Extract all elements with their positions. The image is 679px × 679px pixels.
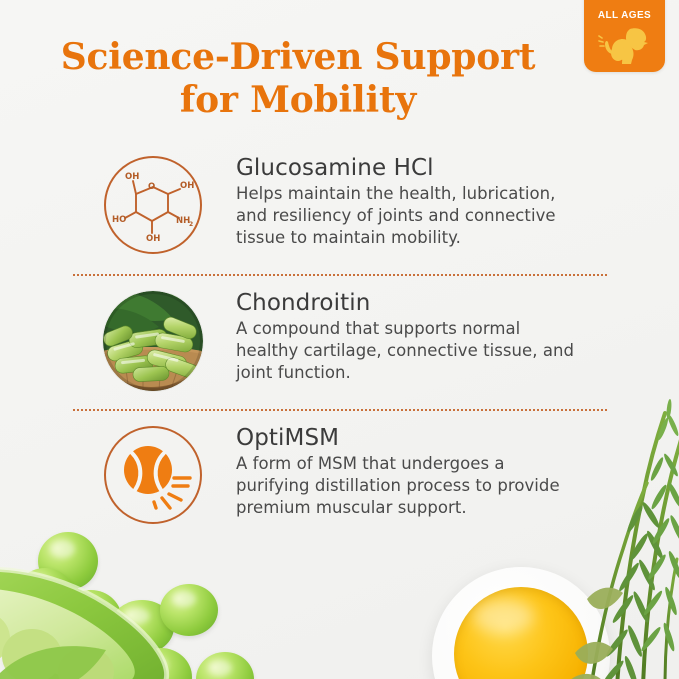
- pea: [16, 568, 74, 622]
- pea-leaf: [0, 628, 90, 679]
- ingredient-icon-wrap: [100, 287, 205, 391]
- ingredient-name: OptiMSM: [236, 424, 679, 452]
- oil-bowl-contents: [454, 587, 588, 679]
- all-ages-badge: ALL AGES: [584, 0, 665, 72]
- infographic-canvas: ALL AGES: [0, 0, 679, 679]
- ingredient-name: Glucosamine HCl: [236, 154, 679, 182]
- section-divider: [73, 409, 607, 411]
- page-title: Science-Driven Support for Mobility: [28, 36, 568, 122]
- ingredient-item-glucosamine: OH O OH HO OH NH 2 Glucosamine HCl Helps…: [0, 152, 679, 264]
- oil-bowl: [432, 567, 610, 679]
- all-ages-badge-label: ALL AGES: [584, 10, 665, 21]
- page-title-line-1: Science-Driven Support: [61, 36, 536, 78]
- ingredient-text-block: Chondroitin A compound that supports nor…: [205, 287, 679, 384]
- pea: [60, 590, 122, 650]
- svg-text:O: O: [148, 182, 155, 192]
- section-divider: [73, 274, 607, 276]
- pea: [196, 652, 254, 679]
- pea: [4, 626, 66, 679]
- glucosamine-molecule-icon: OH O OH HO OH NH 2: [104, 156, 202, 254]
- pea: [110, 600, 174, 654]
- pea: [130, 648, 192, 679]
- svg-text:OH: OH: [125, 172, 139, 182]
- ingredient-name: Chondroitin: [236, 289, 679, 317]
- page-title-line-2: for Mobility: [180, 79, 416, 121]
- ingredient-icon-wrap: [100, 422, 205, 524]
- ingredient-icon-wrap: OH O OH HO OH NH 2: [100, 152, 205, 254]
- ingredient-text-block: OptiMSM A form of MSM that undergoes a p…: [205, 422, 679, 519]
- svg-text:2: 2: [189, 221, 193, 228]
- pea: [38, 532, 98, 590]
- ingredient-item-optimsm: OptiMSM A form of MSM that undergoes a p…: [0, 422, 679, 534]
- ingredient-text-block: Glucosamine HCl Helps maintain the healt…: [205, 152, 679, 249]
- ingredient-list: OH O OH HO OH NH 2 Glucosamine HCl Helps…: [0, 152, 679, 534]
- ingredient-description: Helps maintain the health, lubrication, …: [236, 183, 581, 249]
- ingredient-item-chondroitin: Chondroitin A compound that supports nor…: [0, 287, 679, 399]
- dog-silhouette-icon: [584, 23, 665, 67]
- ingredient-description: A form of MSM that undergoes a purifying…: [236, 453, 581, 519]
- pea: [160, 584, 218, 636]
- tennis-ball-motion-icon: [104, 426, 202, 524]
- pea: [76, 610, 142, 670]
- ingredient-description: A compound that supports normal healthy …: [236, 318, 581, 384]
- svg-text:OH: OH: [146, 234, 160, 244]
- pea: [42, 648, 102, 679]
- green-capsules-photo-icon: [103, 291, 203, 391]
- svg-text:OH: OH: [180, 181, 194, 191]
- svg-text:HO: HO: [112, 215, 126, 225]
